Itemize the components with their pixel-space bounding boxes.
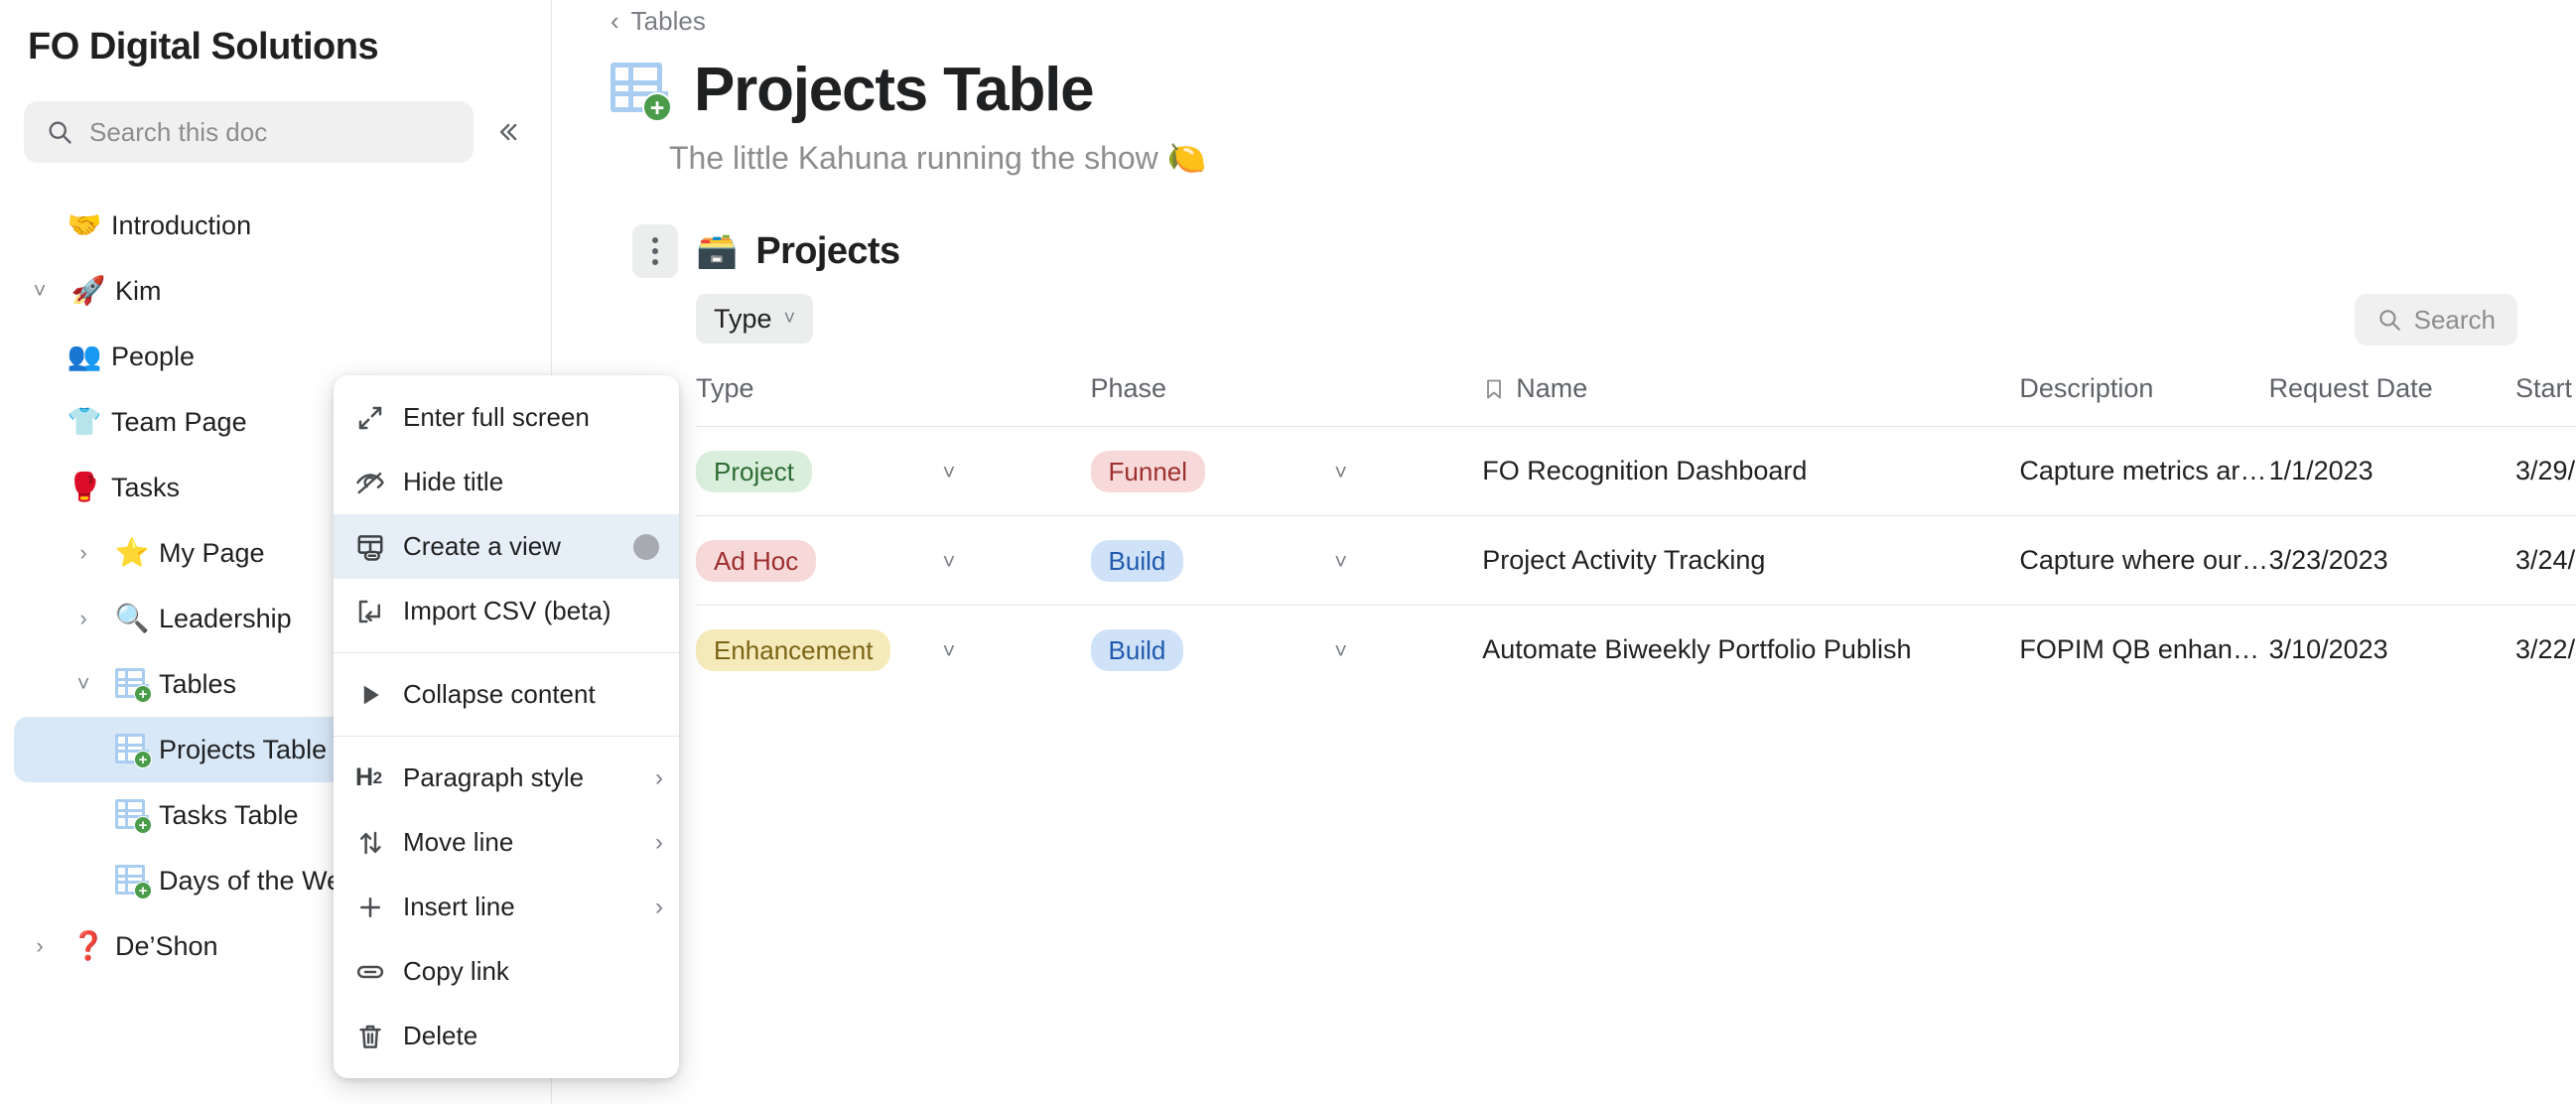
cell-value: Capture where our …	[2019, 545, 2268, 576]
menu-item-label: Insert line	[403, 892, 637, 922]
sidebar-item-label: Introduction	[111, 210, 251, 241]
cell-value: 3/22/2023	[2515, 634, 2576, 664]
column-header-label: Name	[1516, 373, 1587, 404]
column-header-name[interactable]: Name	[1482, 373, 2019, 427]
column-header-type-spacer	[942, 373, 1090, 427]
cell-value: FOPIM QB enhance…	[2019, 634, 2268, 665]
menu-item-create-a-view[interactable]: Create a view	[334, 514, 679, 579]
chevron-down-icon[interactable]: ˅	[62, 671, 105, 697]
section-title: Projects	[755, 230, 899, 273]
sidebar-item-label: Kim	[115, 276, 162, 307]
sidebar-item-label: Tasks	[111, 473, 180, 503]
cell-request-date[interactable]: 1/1/2023	[2269, 427, 2515, 516]
chevron-down-icon[interactable]: ˅	[1334, 549, 1347, 574]
chevron-right-icon[interactable]: ›	[62, 540, 105, 566]
type-pill: Project	[696, 451, 812, 492]
search-icon	[2376, 307, 2402, 333]
page-search-emoji-icon: 🔍	[105, 605, 159, 632]
menu-separator	[334, 652, 679, 653]
table-icon: +	[105, 668, 159, 700]
cell-name[interactable]: FO Recognition Dashboard	[1482, 427, 2019, 516]
h2-icon: H2	[355, 763, 403, 792]
chevron-right-icon: ›	[637, 829, 663, 857]
table-icon: +	[105, 734, 159, 765]
table-body: Project ˅ Funnel ˅ FO Recognition Dashbo…	[696, 427, 2576, 695]
cell-phase[interactable]: Build	[1091, 606, 1335, 695]
menu-item-label: Import CSV (beta)	[403, 596, 663, 626]
table-header-row: Type Phase Name	[696, 373, 2576, 427]
column-header-start-date[interactable]: Start Date	[2515, 373, 2576, 427]
chevron-down-icon: ˅	[784, 308, 796, 331]
cell-description[interactable]: FOPIM QB enhance…	[2019, 606, 2268, 695]
cell-description[interactable]: Capture metrics ar…	[2019, 427, 2268, 516]
context-menu: Enter full screen Hide title	[334, 375, 679, 1078]
cell-start-date[interactable]: 3/29/2023	[2515, 427, 2576, 516]
menu-item-label: Move line	[403, 827, 637, 858]
menu-item-collapse-content[interactable]: Collapse content	[334, 662, 679, 727]
sidebar-item-label: Team Page	[111, 407, 247, 438]
plus-icon	[355, 893, 403, 922]
chevron-down-icon[interactable]: ˅	[1334, 638, 1347, 663]
create-view-icon	[355, 532, 403, 562]
cell-value: Automate Biweekly Portfolio Publish	[1482, 634, 2019, 665]
column-header-request-date[interactable]: Request Date	[2269, 373, 2515, 427]
table-icon: +	[105, 865, 159, 897]
menu-item-label: Create a view	[403, 531, 633, 562]
menu-item-hide-title[interactable]: Hide title	[334, 450, 679, 514]
column-header-label: Description	[2019, 373, 2153, 404]
table-row[interactable]: Project ˅ Funnel ˅ FO Recognition Dashbo…	[696, 427, 2576, 516]
menu-item-enter-full-screen[interactable]: Enter full screen	[334, 385, 679, 450]
table-icon: +	[105, 799, 159, 831]
sidebar-item-label: Tables	[159, 669, 236, 700]
handshake-emoji-icon: 🤝	[58, 211, 111, 239]
table-row[interactable]: Ad Hoc ˅ Build ˅ Project Activity Tracki…	[696, 516, 2576, 606]
people-emoji-icon: 👥	[58, 343, 111, 370]
search-icon	[46, 118, 73, 146]
menu-item-copy-link[interactable]: Copy link	[334, 939, 679, 1004]
cell-value: 3/10/2023	[2269, 634, 2388, 664]
trash-icon	[355, 1022, 403, 1051]
card-index-dividers-emoji-icon: 🗃️	[696, 231, 738, 271]
chevron-right-icon: ›	[637, 764, 663, 792]
page-title: Projects Table	[694, 55, 1093, 125]
sidebar-search-row: Search this doc	[0, 71, 551, 163]
column-header-label: Phase	[1091, 373, 1167, 404]
table-header: Type Phase Name	[696, 373, 2576, 427]
cell-request-date[interactable]: 3/10/2023	[2269, 606, 2515, 695]
cell-type-chevron[interactable]: ˅	[942, 516, 1090, 606]
cell-value: 1/1/2023	[2269, 456, 2373, 485]
status-dot	[633, 534, 659, 560]
cell-value: 3/23/2023	[2269, 545, 2388, 575]
jersey-emoji-icon: 👕	[58, 408, 111, 436]
eye-off-icon	[355, 468, 403, 497]
play-triangle-icon	[355, 680, 403, 710]
table-search-label: Search	[2414, 305, 2496, 336]
column-header-label: Request Date	[2269, 373, 2433, 404]
cell-description[interactable]: Capture where our …	[2019, 516, 2268, 606]
menu-item-delete[interactable]: Delete	[334, 1004, 679, 1068]
app-root: FO Digital Solutions Search this doc 🤝	[0, 0, 2576, 1104]
chevron-down-icon[interactable]: ˅	[942, 460, 955, 484]
sidebar-item-label: People	[111, 342, 195, 372]
move-line-icon	[355, 828, 403, 858]
star-emoji-icon: ⭐	[105, 539, 159, 567]
import-csv-icon	[355, 597, 403, 626]
chevron-down-icon[interactable]: ˅	[942, 638, 955, 663]
bookmark-icon	[1482, 377, 1506, 401]
page-header: + Projects Table	[610, 55, 2576, 125]
cell-phase[interactable]: Build	[1091, 516, 1335, 606]
cell-name[interactable]: Project Activity Tracking	[1482, 516, 2019, 606]
chevron-double-left-icon[interactable]	[487, 112, 527, 152]
menu-item-label: Copy link	[403, 956, 663, 987]
type-filter-label: Type	[714, 304, 772, 335]
sidebar-item-label: My Page	[159, 538, 265, 569]
search-input[interactable]: Search this doc	[24, 101, 474, 163]
cell-value: Project Activity Tracking	[1482, 545, 2019, 576]
type-filter-button[interactable]: Type ˅	[696, 294, 813, 344]
rocket-emoji-icon: 🚀	[62, 277, 115, 305]
chevron-left-icon[interactable]: ‹	[610, 6, 619, 37]
cell-value: FO Recognition Dashboard	[1482, 456, 2019, 486]
cell-request-date[interactable]: 3/23/2023	[2269, 516, 2515, 606]
boxing-glove-emoji-icon: 🥊	[58, 474, 111, 501]
type-pill: Enhancement	[696, 629, 890, 671]
doc-title: FO Digital Solutions	[0, 10, 551, 71]
phase-pill: Funnel	[1091, 451, 1206, 492]
menu-item-label: Hide title	[403, 467, 663, 497]
cell-start-date[interactable]: 3/22/2023	[2515, 606, 2576, 695]
cell-phase-chevron[interactable]: ˅	[1334, 427, 1482, 516]
table-row[interactable]: Enhancement ˅ Build ˅ Automate Biweekly …	[696, 606, 2576, 695]
menu-item-paragraph-style[interactable]: H2 Paragraph style ›	[334, 746, 679, 810]
sidebar-item-label: Leadership	[159, 604, 292, 634]
cell-value: Capture metrics ar…	[2019, 456, 2268, 486]
cell-type-chevron[interactable]: ˅	[942, 427, 1090, 516]
menu-item-import-csv[interactable]: Import CSV (beta)	[334, 579, 679, 643]
question-mark-emoji-icon: ❓	[62, 932, 115, 960]
column-header-label: Type	[696, 373, 754, 404]
cell-type[interactable]: Enhancement	[696, 606, 942, 695]
sidebar-item-kim[interactable]: ˅ 🚀 Kim	[14, 258, 537, 324]
projects-table: Type Phase Name	[696, 373, 2576, 695]
page-subtitle: The little Kahuna running the show 🍋	[669, 139, 2576, 177]
cell-type-chevron[interactable]: ˅	[942, 606, 1090, 695]
column-header-phase-spacer	[1334, 373, 1482, 427]
column-header-type[interactable]: Type	[696, 373, 942, 427]
table-icon: +	[610, 63, 668, 118]
menu-item-label: Enter full screen	[403, 402, 663, 433]
breadcrumb-label[interactable]: Tables	[631, 6, 706, 37]
breadcrumb[interactable]: ‹ Tables	[610, 0, 2576, 37]
chevron-down-icon[interactable]: ˅	[942, 549, 955, 574]
cell-phase-chevron[interactable]: ˅	[1334, 516, 1482, 606]
column-header-label: Start Date	[2515, 373, 2576, 404]
chevron-down-icon[interactable]: ˅	[18, 278, 62, 304]
phase-pill: Build	[1091, 540, 1184, 582]
menu-item-label: Collapse content	[403, 679, 663, 710]
table-search-button[interactable]: Search	[2355, 294, 2517, 345]
sidebar-item-label: De’Shon	[115, 931, 218, 962]
menu-item-move-line[interactable]: Move line ›	[334, 810, 679, 875]
cell-type[interactable]: Project	[696, 427, 942, 516]
main-content: ‹ Tables + Projects Table The little Kah…	[552, 0, 2576, 1104]
table-toolbar: Type ˅ Search	[696, 294, 2576, 344]
kebab-menu-icon[interactable]	[632, 224, 678, 278]
menu-separator	[334, 736, 679, 737]
link-icon	[355, 957, 403, 987]
cell-value: 3/24/2023	[2515, 545, 2576, 575]
chevron-right-icon[interactable]: ›	[62, 606, 105, 631]
search-placeholder: Search this doc	[89, 117, 267, 148]
sidebar-item-introduction[interactable]: 🤝 Introduction	[14, 193, 537, 258]
column-header-description[interactable]: Description	[2019, 373, 2268, 427]
column-header-phase[interactable]: Phase	[1091, 373, 1335, 427]
cell-value: 3/29/2023	[2515, 456, 2576, 485]
cell-start-date[interactable]: 3/24/2023	[2515, 516, 2576, 606]
fullscreen-icon	[355, 403, 403, 433]
phase-pill: Build	[1091, 629, 1184, 671]
type-pill: Ad Hoc	[696, 540, 816, 582]
cell-name[interactable]: Automate Biweekly Portfolio Publish	[1482, 606, 2019, 695]
cell-type[interactable]: Ad Hoc	[696, 516, 942, 606]
chevron-right-icon[interactable]: ›	[18, 933, 62, 959]
menu-item-label: Paragraph style	[403, 762, 637, 793]
section-header: 🗃️ Projects	[632, 224, 2576, 278]
chevron-right-icon: ›	[637, 894, 663, 921]
cell-phase-chevron[interactable]: ˅	[1334, 606, 1482, 695]
chevron-down-icon[interactable]: ˅	[1334, 460, 1347, 484]
menu-item-insert-line[interactable]: Insert line ›	[334, 875, 679, 939]
menu-item-label: Delete	[403, 1021, 663, 1051]
sidebar-item-label: Tasks Table	[159, 800, 299, 831]
cell-phase[interactable]: Funnel	[1091, 427, 1335, 516]
sidebar-item-label: Projects Table	[159, 735, 327, 765]
